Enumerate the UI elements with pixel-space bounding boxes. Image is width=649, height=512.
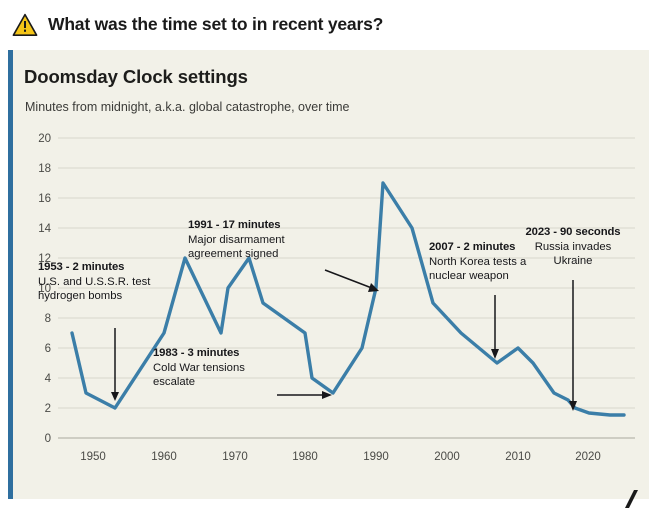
annotation-1953-heading: 1953 - 2 minutes: [38, 260, 150, 275]
annotation-1991-line1: Major disarmament: [188, 233, 285, 248]
x-tick-2000: 2000: [434, 451, 460, 463]
annotation-2023-heading: 2023 - 90 seconds: [483, 225, 649, 240]
corner-logo-mark: [618, 488, 640, 510]
x-tick-2010: 2010: [505, 451, 531, 463]
chart-card: Doomsday Clock settings Minutes from mid…: [8, 50, 649, 499]
annotation-1953: 1953 - 2 minutes U.S. and U.S.S.R. test …: [38, 260, 150, 304]
y-tick-16: 16: [38, 193, 51, 205]
chart-plot-area: 20 18 16 14 12 10 8 6 4 2 0 1950 1960 19…: [25, 130, 635, 495]
annotation-2007-heading: 2007 - 2 minutes: [429, 240, 526, 255]
annotation-2007-line2: nuclear weapon: [429, 269, 526, 284]
annotation-1991-line2: agreement signed: [188, 247, 285, 262]
annotation-1953-line1: U.S. and U.S.S.R. test: [38, 275, 150, 290]
y-tick-4: 4: [45, 373, 52, 385]
y-tick-18: 18: [38, 163, 51, 175]
annotation-1953-line2: hydrogen bombs: [38, 289, 150, 304]
page-header: What was the time set to in recent years…: [0, 0, 649, 49]
annotation-2007-line1: North Korea tests a: [429, 255, 526, 270]
y-tick-6: 6: [45, 343, 51, 355]
x-axis-tick-labels: 1950 1960 1970 1980 1990 2000 2010 2020: [80, 451, 601, 463]
x-tick-1970: 1970: [222, 451, 248, 463]
annotation-1983-heading: 1983 - 3 minutes: [153, 346, 245, 361]
y-tick-0: 0: [45, 433, 51, 445]
annotation-1983-line2: escalate: [153, 375, 245, 390]
y-tick-8: 8: [45, 313, 51, 325]
x-tick-1960: 1960: [151, 451, 177, 463]
y-tick-20: 20: [38, 133, 51, 145]
y-tick-14: 14: [38, 223, 51, 235]
warning-triangle-icon: [12, 13, 38, 37]
page-title: What was the time set to in recent years…: [48, 14, 383, 35]
y-tick-2: 2: [45, 403, 51, 415]
card-accent-bar: [8, 50, 13, 499]
screenshot-root: What was the time set to in recent years…: [0, 0, 649, 512]
annotation-1983: 1983 - 3 minutes Cold War tensions escal…: [153, 346, 245, 390]
annotation-arrows: [111, 270, 577, 411]
annotation-1983-line1: Cold War tensions: [153, 361, 245, 376]
annotation-2007: 2007 - 2 minutes North Korea tests a nuc…: [429, 240, 526, 284]
x-tick-1950: 1950: [80, 451, 106, 463]
line-chart-svg: 20 18 16 14 12 10 8 6 4 2 0 1950 1960 19…: [25, 130, 635, 495]
annotation-1991-heading: 1991 - 17 minutes: [188, 218, 285, 233]
annotation-1991: 1991 - 17 minutes Major disarmament agre…: [188, 218, 285, 262]
chart-title: Doomsday Clock settings: [24, 66, 248, 88]
x-tick-1990: 1990: [363, 451, 389, 463]
x-tick-1980: 1980: [292, 451, 318, 463]
x-tick-2020: 2020: [575, 451, 601, 463]
chart-subtitle: Minutes from midnight, a.k.a. global cat…: [25, 100, 349, 114]
